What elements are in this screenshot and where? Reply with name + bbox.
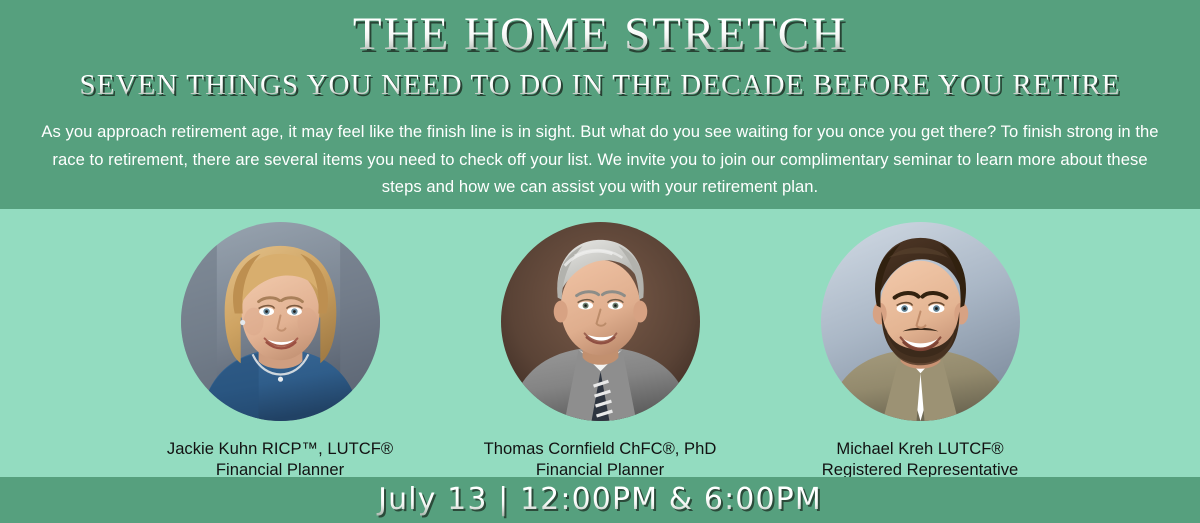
page-title: THE HOME STRETCH — [0, 8, 1200, 60]
avatar — [181, 222, 380, 421]
seminar-banner: THE HOME STRETCH SEVEN THINGS YOU NEED T… — [0, 0, 1200, 523]
presenters-section: Jackie Kuhn RICP™, LUTCF® Financial Plan… — [0, 209, 1200, 477]
intro-paragraph: As you approach retirement age, it may f… — [40, 118, 1160, 201]
headshot-michael-kreh-image — [821, 222, 1020, 421]
presenter-card: Michael Kreh LUTCF® Registered Represent… — [760, 209, 1080, 480]
avatar — [501, 222, 700, 421]
presenter-list: Jackie Kuhn RICP™, LUTCF® Financial Plan… — [0, 209, 1200, 477]
presenter-card: Jackie Kuhn RICP™, LUTCF® Financial Plan… — [120, 209, 440, 480]
page-subtitle: SEVEN THINGS YOU NEED TO DO IN THE DECAD… — [0, 68, 1200, 102]
header-section: THE HOME STRETCH SEVEN THINGS YOU NEED T… — [0, 0, 1200, 209]
presenter-name: Thomas Cornfield ChFC®, PhD — [484, 438, 717, 459]
event-details-bar: July 13 | 12:00PM & 6:00PM — [0, 477, 1200, 523]
presenter-name: Jackie Kuhn RICP™, LUTCF® — [167, 438, 393, 459]
headshot-thomas-cornfield-image — [501, 222, 700, 421]
event-date-time: July 13 | 12:00PM & 6:00PM — [0, 480, 1200, 520]
presenter-card: Thomas Cornfield ChFC®, PhD Financial Pl… — [440, 209, 760, 480]
avatar — [821, 222, 1020, 421]
presenter-name: Michael Kreh LUTCF® — [836, 438, 1003, 459]
headshot-jackie-kuhn-image — [181, 222, 380, 421]
